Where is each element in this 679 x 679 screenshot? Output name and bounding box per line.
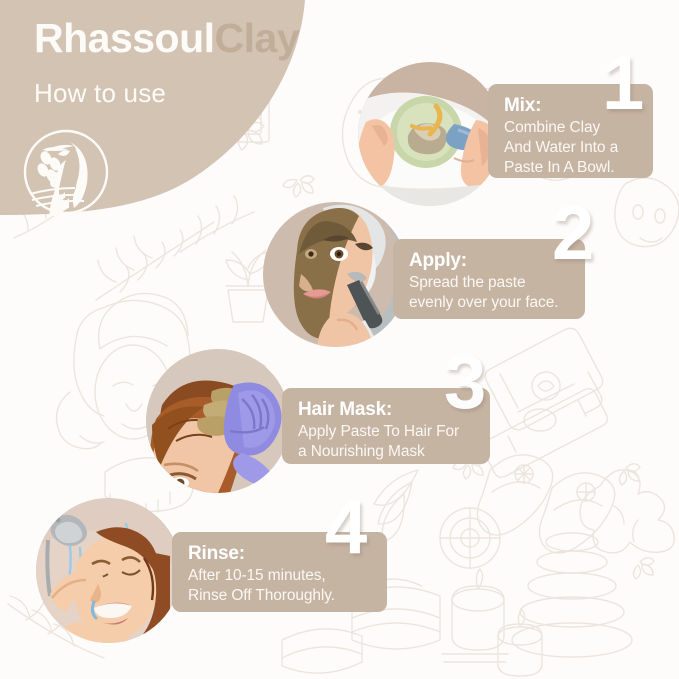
step-2-photo-applying-mask [263, 202, 408, 347]
step-2-heading: Apply: [409, 250, 571, 272]
step-1-number: 1 [602, 46, 642, 122]
step-2-line-2: evenly over your face. [409, 293, 571, 313]
step-3-line-2: a Nourishing Mask [298, 442, 476, 462]
step-2-number: 2 [552, 196, 592, 272]
step-1-line-2: And Water Into a [504, 138, 639, 158]
wm-candles [442, 569, 542, 676]
wm-spa-slippers [477, 455, 614, 553]
page-subtitle: How to use [34, 80, 166, 106]
wm-leaf-fan [374, 470, 418, 542]
wm-soap-bar [282, 629, 362, 673]
page-title-part-secondary: Clay [215, 15, 300, 61]
infographic-page: RhassoulClay How to use [0, 0, 679, 679]
step-2-line-1: Spread the paste [409, 273, 571, 293]
step-4-photo-rinsing-shower [36, 498, 181, 643]
step-1-photo-mixing-clay-bowl [358, 62, 502, 206]
step-4-line-2: Rinse Off Thoroughly. [188, 586, 373, 606]
wm-mask-sheet [615, 178, 679, 247]
brand-logo-icon [22, 128, 110, 216]
step-4-number: 4 [325, 490, 365, 566]
wm-stacked-stones [512, 533, 632, 657]
wm-cream-tube [485, 328, 602, 430]
step-2-body: Spread the paste evenly over your face. [409, 273, 571, 313]
step-4-body: After 10-15 minutes, Rinse Off Thoroughl… [188, 566, 373, 606]
step-1-line-3: Paste In A Bowl. [504, 158, 639, 178]
page-title: RhassoulClay [34, 18, 299, 59]
page-title-part-primary: Rhassoul [34, 15, 215, 61]
step-3-number: 3 [444, 345, 484, 421]
step-3-photo-hair-mask [146, 349, 290, 493]
step-3-body: Apply Paste To Hair For a Nourishing Mas… [298, 422, 476, 462]
step-1-body: Combine Clay And Water Into a Paste In A… [504, 118, 639, 177]
wm-soap-packet [483, 389, 608, 478]
wm-ginger-root [580, 470, 674, 553]
wm-massage-discs [440, 508, 500, 568]
